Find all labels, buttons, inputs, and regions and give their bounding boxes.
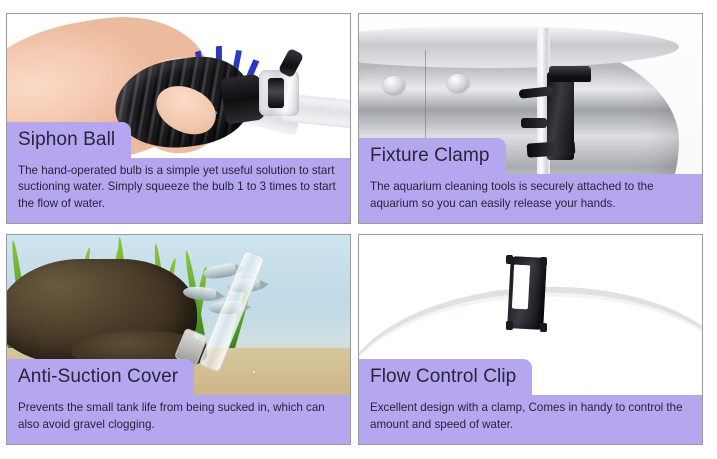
panel-title: Anti-Suction Cover xyxy=(7,359,194,395)
feature-panel-grid: aqua Siphon Ball The hand-operated bulb … xyxy=(6,13,703,445)
panel-title: Siphon Ball xyxy=(7,122,131,158)
clip-corner-tab xyxy=(540,257,547,266)
flow-control-clip-caption: Flow Control Clip Excellent design with … xyxy=(359,359,702,444)
siphon-ball-caption: Siphon Ball The hand-operated bulb is a … xyxy=(7,122,350,223)
panel-description: The aquarium cleaning tools is securely … xyxy=(370,179,691,213)
feature-panel-fixture-clamp: Fixture Clamp The aquarium cleaning tool… xyxy=(358,13,703,224)
clip-corner-tab xyxy=(506,321,513,330)
panel-description: Excellent design with a clamp, Comes in … xyxy=(370,400,691,434)
feature-panel-siphon-ball: aqua Siphon Ball The hand-operated bulb … xyxy=(6,13,351,224)
panel-title: Fixture Clamp xyxy=(359,138,506,174)
feature-panel-flow-control-clip: Flow Control Clip Excellent design with … xyxy=(358,234,703,445)
tank-rim-top-edge xyxy=(359,26,679,68)
clamp-hook-icon xyxy=(549,66,591,82)
valve-body-icon xyxy=(259,70,299,116)
panel-description-band: Excellent design with a clamp, Comes in … xyxy=(359,395,702,444)
panel-title: Flow Control Clip xyxy=(359,359,532,395)
panel-description: Prevents the small tank life from being … xyxy=(18,400,339,434)
panel-description-band: Prevents the small tank life from being … xyxy=(7,395,350,444)
panel-description-band: The hand-operated bulb is a simple yet u… xyxy=(7,158,350,223)
rivet-icon xyxy=(447,74,469,92)
rivet-icon xyxy=(383,76,405,94)
clip-slot xyxy=(512,265,530,310)
feature-panel-anti-suction-cover: Anti-Suction Cover Prevents the small ta… xyxy=(6,234,351,445)
fixture-clamp-caption: Fixture Clamp The aquarium cleaning tool… xyxy=(359,138,702,223)
clip-corner-tab xyxy=(540,323,547,332)
clip-corner-tab xyxy=(506,255,513,264)
panel-description-band: The aquarium cleaning tools is securely … xyxy=(359,174,702,223)
clamp-arm-icon xyxy=(521,118,547,128)
anti-suction-cover-caption: Anti-Suction Cover Prevents the small ta… xyxy=(7,359,350,444)
panel-description: The hand-operated bulb is a simple yet u… xyxy=(18,163,339,213)
product-feature-sheet: aqua Siphon Ball The hand-operated bulb … xyxy=(0,0,717,459)
